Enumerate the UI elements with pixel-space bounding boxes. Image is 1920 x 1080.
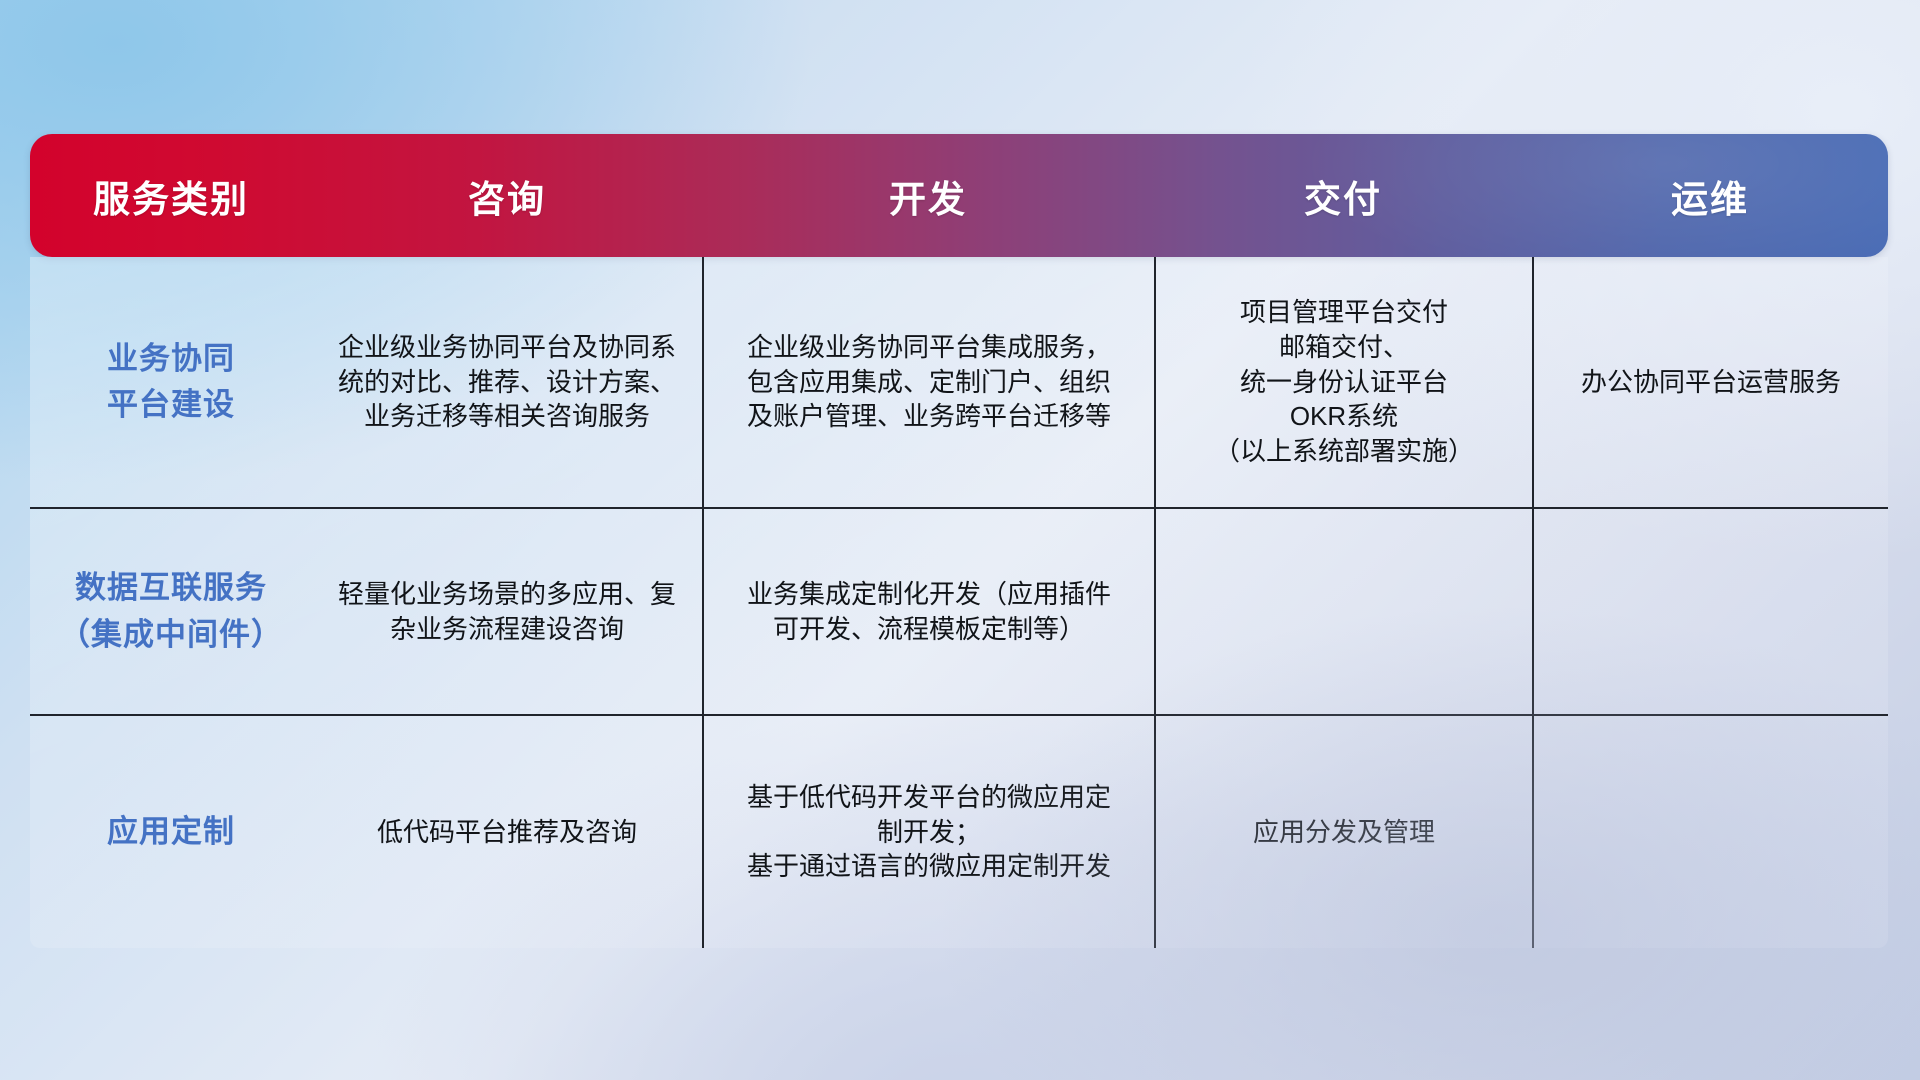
cell-development: 企业级业务协同平台集成服务， 包含应用集成、定制门户、组织 及账户管理、业务跨平… bbox=[702, 257, 1154, 507]
cell-category: 应用定制 bbox=[30, 716, 312, 948]
column-header-development: 开发 bbox=[702, 134, 1154, 257]
cell-operations: 办公协同平台运营服务 bbox=[1532, 257, 1888, 507]
column-header-service-category: 服务类别 bbox=[30, 134, 312, 257]
cell-operations bbox=[1532, 509, 1888, 714]
cell-category: 业务协同 平台建设 bbox=[30, 257, 312, 507]
cell-delivery: 项目管理平台交付 邮箱交付、 统一身份认证平台 OKR系统 （以上系统部署实施） bbox=[1154, 257, 1532, 507]
cell-delivery: 应用分发及管理 bbox=[1154, 716, 1532, 948]
column-header-operations: 运维 bbox=[1532, 134, 1888, 257]
table-body: 业务协同 平台建设 企业级业务协同平台及协同系 统的对比、推荐、设计方案、 业务… bbox=[30, 257, 1888, 948]
table-row: 应用定制 低代码平台推荐及咨询 基于低代码开发平台的微应用定 制开发； 基于通过… bbox=[30, 714, 1888, 948]
slide-canvas: 服务类别 咨询 开发 交付 运维 业务协同 平台建设 企业级业务协同平台及协同系… bbox=[0, 0, 1920, 1080]
column-header-delivery: 交付 bbox=[1154, 134, 1532, 257]
column-header-label: 运维 bbox=[1671, 169, 1749, 223]
table-row: 数据互联服务 （集成中间件） 轻量化业务场景的多应用、复 杂业务流程建设咨询 业… bbox=[30, 507, 1888, 714]
column-header-label: 交付 bbox=[1304, 169, 1382, 223]
cell-category: 数据互联服务 （集成中间件） bbox=[30, 509, 312, 714]
cell-delivery bbox=[1154, 509, 1532, 714]
service-matrix-table: 服务类别 咨询 开发 交付 运维 业务协同 平台建设 企业级业务协同平台及协同系… bbox=[30, 134, 1888, 948]
column-header-label: 服务类别 bbox=[93, 169, 249, 223]
cell-consulting: 轻量化业务场景的多应用、复 杂业务流程建设咨询 bbox=[312, 509, 702, 714]
table-header-row: 服务类别 咨询 开发 交付 运维 bbox=[30, 134, 1888, 257]
cell-consulting: 企业级业务协同平台及协同系 统的对比、推荐、设计方案、 业务迁移等相关咨询服务 bbox=[312, 257, 702, 507]
cell-development: 业务集成定制化开发（应用插件 可开发、流程模板定制等） bbox=[702, 509, 1154, 714]
column-header-consulting: 咨询 bbox=[312, 134, 702, 257]
cell-consulting: 低代码平台推荐及咨询 bbox=[312, 716, 702, 948]
cell-development: 基于低代码开发平台的微应用定 制开发； 基于通过语言的微应用定制开发 bbox=[702, 716, 1154, 948]
column-header-label: 开发 bbox=[889, 169, 967, 223]
table-row: 业务协同 平台建设 企业级业务协同平台及协同系 统的对比、推荐、设计方案、 业务… bbox=[30, 257, 1888, 507]
cell-operations bbox=[1532, 716, 1888, 948]
column-header-label: 咨询 bbox=[468, 169, 546, 223]
